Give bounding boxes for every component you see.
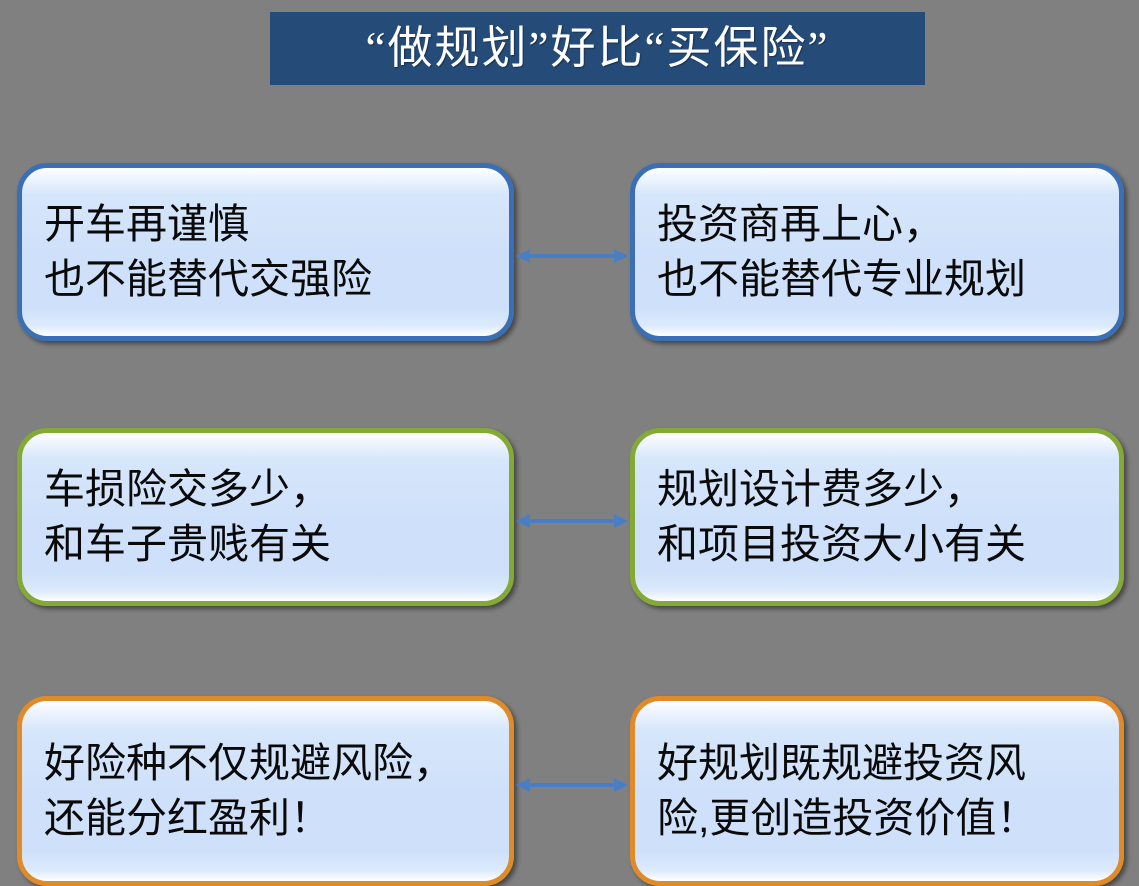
comparison-box-planning-2-text: 规划设计费多少， 和项目投资大小有关 (635, 462, 1036, 571)
double-arrow-icon-row-3 (516, 772, 628, 798)
comparison-box-insurance-3[interactable]: 好险种不仅规避风险， 还能分红盈利！ (17, 696, 514, 886)
comparison-box-insurance-2[interactable]: 车损险交多少， 和车子贵贱有关 (17, 428, 514, 606)
comparison-box-planning-3[interactable]: 好规划既规避投资风 险,更创造投资价值！ (630, 696, 1124, 886)
double-arrow-icon-row-1 (516, 243, 628, 269)
double-arrow-icon-row-2 (516, 508, 628, 534)
comparison-box-planning-2[interactable]: 规划设计费多少， 和项目投资大小有关 (630, 428, 1124, 606)
comparison-box-insurance-1[interactable]: 开车再谨慎 也不能替代交强险 (17, 163, 514, 341)
title-banner: “做规划”好比“买保险” (270, 12, 925, 85)
comparison-box-planning-1-text: 投资商再上心， 也不能替代专业规划 (635, 197, 1036, 306)
comparison-box-insurance-2-text: 车损险交多少， 和车子贵贱有关 (22, 462, 341, 571)
comparison-box-insurance-3-text: 好险种不仅规避风险， 还能分红盈利！ (22, 736, 464, 845)
comparison-box-planning-1[interactable]: 投资商再上心， 也不能替代专业规划 (630, 163, 1124, 341)
comparison-box-planning-3-text: 好规划既规避投资风 险,更创造投资价值！ (635, 736, 1047, 845)
comparison-box-insurance-1-text: 开车再谨慎 也不能替代交强险 (22, 197, 382, 306)
page-title: “做规划”好比“买保险” (366, 26, 830, 71)
